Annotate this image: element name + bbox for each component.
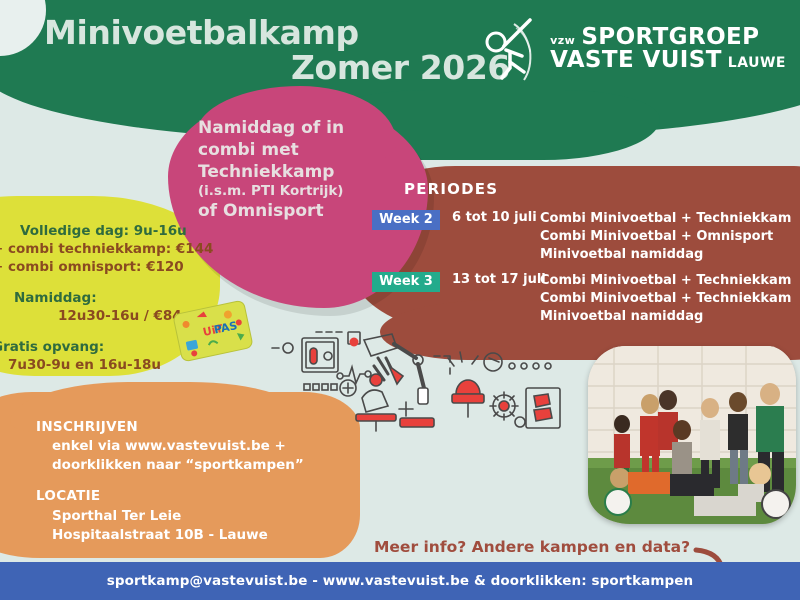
periodes-heading: PERIODES — [404, 180, 800, 198]
title-line-2: Zomer 2026 — [44, 51, 544, 86]
week-badge-2: Week 2 — [372, 210, 440, 230]
pink-line-1: Namiddag of in — [198, 118, 388, 140]
poster-canvas: Minivoetbalkamp Zomer 2026 vzw SPORTGROE… — [0, 0, 800, 600]
periode-row-week-2: Week 2 6 tot 10 juli Combi Minivoetbal +… — [404, 210, 800, 264]
pink-line-4: of Omnisport — [198, 201, 388, 223]
running-figure-icon — [480, 16, 542, 82]
logo-name-line-2: VASTE VUIST — [550, 49, 722, 72]
logo-vzw-label: vzw — [550, 35, 575, 46]
inschrijven-heading: INSCHRIJVEN — [36, 418, 336, 437]
week-3-item-2: Combi Minivoetbal + Techniekkam — [540, 290, 791, 308]
pink-line-3: Techniekkamp — [198, 162, 388, 184]
footer-contact-text: sportkamp@vastevuist.be - www.vastevuist… — [107, 573, 694, 589]
price-combi-techniekkamp: + combi techniekkamp: €144 — [0, 240, 222, 258]
pink-banner-text: Namiddag of in combi met Techniekkamp (i… — [198, 118, 388, 222]
week-badge-3: Week 3 — [372, 272, 440, 292]
locatie-line-1: Sporthal Ter Leie — [36, 507, 336, 526]
periodes-section: PERIODES Week 2 6 tot 10 juli Combi Mini… — [404, 180, 800, 334]
logo-name-line-1: SPORTGROEP — [581, 26, 759, 49]
week-3-item-1: Combi Minivoetbal + Techniekkam — [540, 272, 791, 290]
week-2-item-3: Minivoetbal namiddag — [540, 246, 791, 264]
logo-wordmark: vzw SPORTGROEP VASTE VUIST LAUWE — [550, 26, 786, 72]
pink-line-2: combi met — [198, 140, 388, 162]
inschrijven-line-1: enkel via www.vastevuist.be + — [36, 437, 336, 456]
week-2-item-1: Combi Minivoetbal + Techniekkam — [540, 210, 791, 228]
week-dates-3: 13 tot 17 juli — [440, 272, 540, 287]
locatie-line-2: Hospitaalstraat 10B - Lauwe — [36, 526, 336, 545]
week-3-item-3: Minivoetbal namiddag — [540, 308, 791, 326]
footer-bar: sportkamp@vastevuist.be - www.vastevuist… — [0, 562, 800, 600]
week-items-3: Combi Minivoetbal + Techniekkam Combi Mi… — [540, 272, 791, 326]
inschrijven-line-2: doorklikken naar “sportkampen” — [36, 456, 336, 475]
organization-logo: vzw SPORTGROEP VASTE VUIST LAUWE — [480, 16, 786, 82]
locatie-heading: LOCATIE — [36, 487, 336, 506]
logo-place-label: LAUWE — [728, 56, 786, 70]
week-items-2: Combi Minivoetbal + Techniekkam Combi Mi… — [540, 210, 791, 264]
meer-info-text: Meer info? Andere kampen en data? — [374, 538, 690, 556]
group-photo-children-sports-hall — [588, 346, 796, 524]
week-2-item-2: Combi Minivoetbal + Omnisport — [540, 228, 791, 246]
price-combi-omnisport: + combi omnisport: €120 — [0, 258, 222, 276]
technology-line-art-illustration — [258, 318, 568, 433]
price-afternoon-label: Namiddag: — [0, 289, 222, 307]
price-full-day: Volledige dag: 9u-16u — [0, 222, 222, 240]
title-line-1: Minivoetbalkamp — [44, 16, 544, 51]
week-dates-2: 6 tot 10 juli — [440, 210, 540, 225]
pink-subtitle: (i.s.m. PTI Kortrijk) — [198, 183, 388, 200]
registration-info-block: INSCHRIJVEN enkel via www.vastevuist.be … — [36, 418, 336, 545]
page-title: Minivoetbalkamp Zomer 2026 — [44, 16, 544, 86]
